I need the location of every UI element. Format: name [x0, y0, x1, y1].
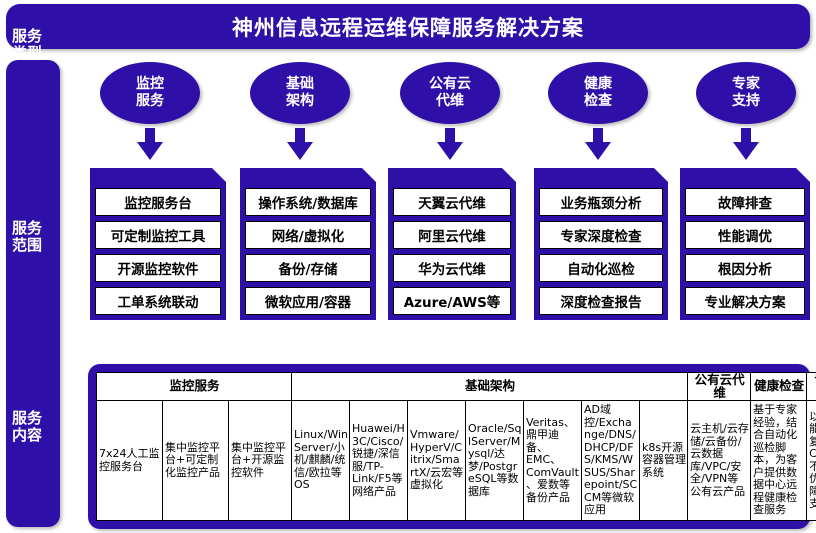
scope-item[interactable]: 深度检查报告	[539, 287, 663, 315]
rail-label-service-type: 服务 类型	[0, 28, 54, 62]
scope-item[interactable]: 工单系统联动	[95, 287, 221, 315]
content-cell: Vmware/HyperV/Citrix/SmartX/云宏等虚拟化	[408, 401, 466, 521]
group-header-health: 健康检查	[751, 373, 807, 401]
content-cell: k8s开源容器管理系统	[640, 401, 688, 521]
down-arrow-icon-monitoring	[137, 128, 163, 162]
content-cell: Linux/WinServer/小机/麒麟/统信/欧拉等OS	[292, 401, 350, 521]
rail-label-line2: 类型	[0, 45, 54, 62]
scope-item[interactable]: 根因分析	[685, 254, 805, 282]
page-title: 神州信息远程运维保障服务解决方案	[6, 4, 810, 49]
rail-label-line2: 范围	[0, 237, 54, 254]
content-cell: Huawei/H3C/Cisco/锐捷/深信服/TP-Link/F5等网络产品	[350, 401, 408, 521]
rail-label-service-content: 服务 内容	[0, 410, 54, 444]
rail-label-line1: 服务	[0, 220, 54, 237]
diagram-canvas: 神州信息远程运维保障服务解决方案 服务 类型 服务 范围 服务 内容 监控 服务…	[0, 0, 816, 533]
group-header-infra: 基础架构	[292, 373, 688, 401]
row-label-rail	[6, 60, 60, 527]
category-label-line1: 监控	[136, 76, 164, 93]
category-ellipse-expert[interactable]: 专家 支持	[696, 62, 796, 124]
group-header-expert: 专家支持	[807, 373, 816, 401]
category-label-line1: 基础	[286, 76, 314, 93]
scope-item[interactable]: 监控服务台	[95, 188, 221, 216]
scope-item[interactable]: 业务瓶颈分析	[539, 188, 663, 216]
scope-box-infra: 操作系统/数据库 网络/虚拟化 备份/存储 微软应用/容器	[240, 168, 376, 320]
down-arrow-icon-expert	[733, 128, 759, 162]
scope-box-health: 业务瓶颈分析 专家深度检查 自动化巡检 深度检查报告	[534, 168, 668, 320]
category-label-line2: 检查	[584, 93, 612, 110]
scope-item[interactable]: 专业解决方案	[685, 287, 805, 315]
scope-item[interactable]: 华为云代维	[393, 254, 511, 282]
rail-label-line1: 服务	[0, 410, 54, 427]
category-label-line2: 架构	[286, 93, 314, 110]
scope-item[interactable]: 备份/存储	[245, 254, 371, 282]
group-header-monitoring: 监控服务	[97, 373, 292, 401]
category-ellipse-health[interactable]: 健康 检查	[548, 62, 648, 124]
content-cell: 集中监控平台+可定制化监控产品	[163, 401, 229, 521]
scope-item[interactable]: 性能调优	[685, 221, 805, 249]
down-arrow-icon-publiccloud	[437, 128, 463, 162]
down-arrow-icon-health	[585, 128, 611, 162]
scope-item[interactable]: 专家深度检查	[539, 221, 663, 249]
content-cell: AD域控/Exchange/DNS/DHCP/DFS/KMS/WSUS/Shar…	[582, 401, 640, 521]
content-cell: Oracle/SqlServer/Mysql/达梦/PostgreSQL等数据库	[466, 401, 524, 521]
table-row: 7x24人工监控服务台 集中监控平台+可定制化监控产品 集中监控平台+开源监控软…	[97, 401, 816, 521]
scope-box-expert: 故障排查 性能调优 根因分析 专业解决方案	[680, 168, 810, 320]
group-header-publiccloud: 公有云代维	[688, 373, 751, 401]
rail-label-line2: 内容	[0, 427, 54, 444]
scope-item[interactable]: 阿里云代维	[393, 221, 511, 249]
scope-box-monitoring: 监控服务台 可定制监控工具 开源监控软件 工单系统联动	[90, 168, 226, 320]
scope-item[interactable]: 自动化巡检	[539, 254, 663, 282]
scope-item[interactable]: 操作系统/数据库	[245, 188, 371, 216]
category-label-line2: 服务	[136, 93, 164, 110]
service-content-table: 监控服务 基础架构 公有云代维 健康检查 专家支持 7x24人工监控服务台 集中…	[96, 372, 816, 521]
category-label-line1: 公有云	[429, 76, 471, 93]
scope-item[interactable]: Azure/AWS等	[393, 287, 511, 315]
scope-item[interactable]: 可定制监控工具	[95, 221, 221, 249]
service-content-panel: 监控服务 基础架构 公有云代维 健康检查 专家支持 7x24人工监控服务台 集中…	[88, 364, 810, 529]
scope-item[interactable]: 开源监控软件	[95, 254, 221, 282]
content-cell: Veritas、鼎甲迪备、EMC、ComVault、爱数等备份产品	[524, 401, 582, 521]
content-cell: 7x24人工监控服务台	[97, 401, 163, 521]
down-arrow-icon-infra	[287, 128, 313, 162]
scope-box-publiccloud: 天翼云代维 阿里云代维 华为云代维 Azure/AWS等	[388, 168, 516, 320]
category-ellipse-monitoring[interactable]: 监控 服务	[100, 62, 200, 124]
category-label-line1: 健康	[584, 76, 612, 93]
category-label-line1: 专家	[732, 76, 760, 93]
scope-item[interactable]: 天翼云代维	[393, 188, 511, 216]
content-cell: 以专家的能力支持复杂的Case，不限于调优、排障、现场支持	[807, 401, 816, 521]
scope-item[interactable]: 微软应用/容器	[245, 287, 371, 315]
content-cell: 基于专家经验，结合自动化巡检脚本，为客户提供数据中心远程健康检查服务	[751, 401, 807, 521]
table-header-row: 监控服务 基础架构 公有云代维 健康检查 专家支持	[97, 373, 816, 401]
rail-label-service-scope: 服务 范围	[0, 220, 54, 254]
scope-item[interactable]: 网络/虚拟化	[245, 221, 371, 249]
content-cell: 集中监控平台+开源监控软件	[229, 401, 292, 521]
category-label-line2: 支持	[732, 93, 760, 110]
rail-label-line1: 服务	[0, 28, 54, 45]
category-ellipse-publiccloud[interactable]: 公有云 代维	[400, 62, 500, 124]
scope-item[interactable]: 故障排查	[685, 188, 805, 216]
content-cell: 云主机/云存储/云备份/云数据库/VPC/安全/VPN等公有云产品	[688, 401, 751, 521]
category-label-line2: 代维	[436, 93, 464, 110]
category-ellipse-infra[interactable]: 基础 架构	[250, 62, 350, 124]
